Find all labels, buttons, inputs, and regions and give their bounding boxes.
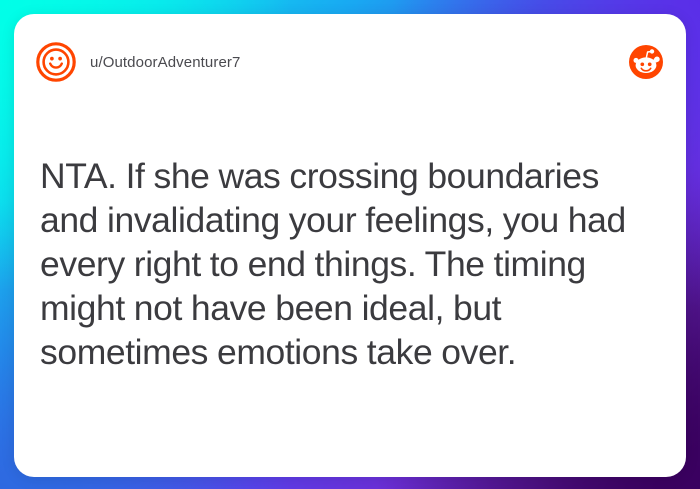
post-header: u/OutdoorAdventurer7 (14, 14, 686, 110)
post-body-text: NTA. If she was crossing boundaries and … (40, 154, 660, 374)
gradient-background: u/OutdoorAdventurer7 NTA. If she was cro… (0, 0, 700, 489)
reddit-snoo-icon[interactable] (628, 44, 664, 80)
smiley-face-avatar-icon[interactable] (36, 42, 76, 82)
username-label: u/OutdoorAdventurer7 (90, 54, 240, 71)
reddit-post-card: u/OutdoorAdventurer7 NTA. If she was cro… (14, 14, 686, 477)
